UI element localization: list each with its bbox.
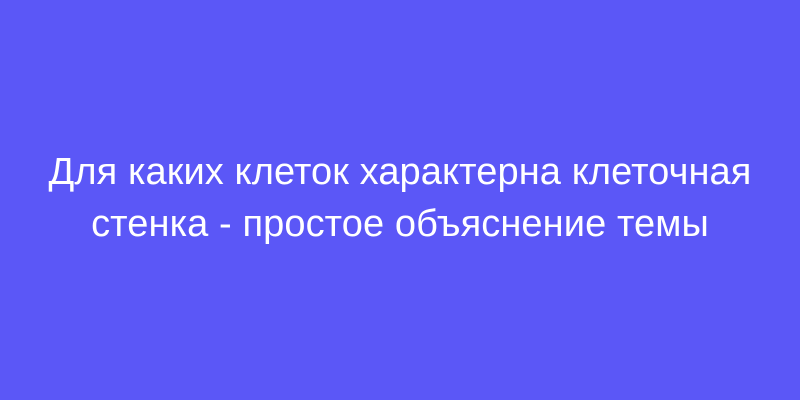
title-line-2: стенка - простое объяснение темы <box>40 198 760 250</box>
title-line-1: Для каких клеток характерна клеточная <box>40 146 760 198</box>
title-card: Для каких клеток характерна клеточная ст… <box>0 0 800 400</box>
page-title: Для каких клеток характерна клеточная ст… <box>40 146 760 254</box>
